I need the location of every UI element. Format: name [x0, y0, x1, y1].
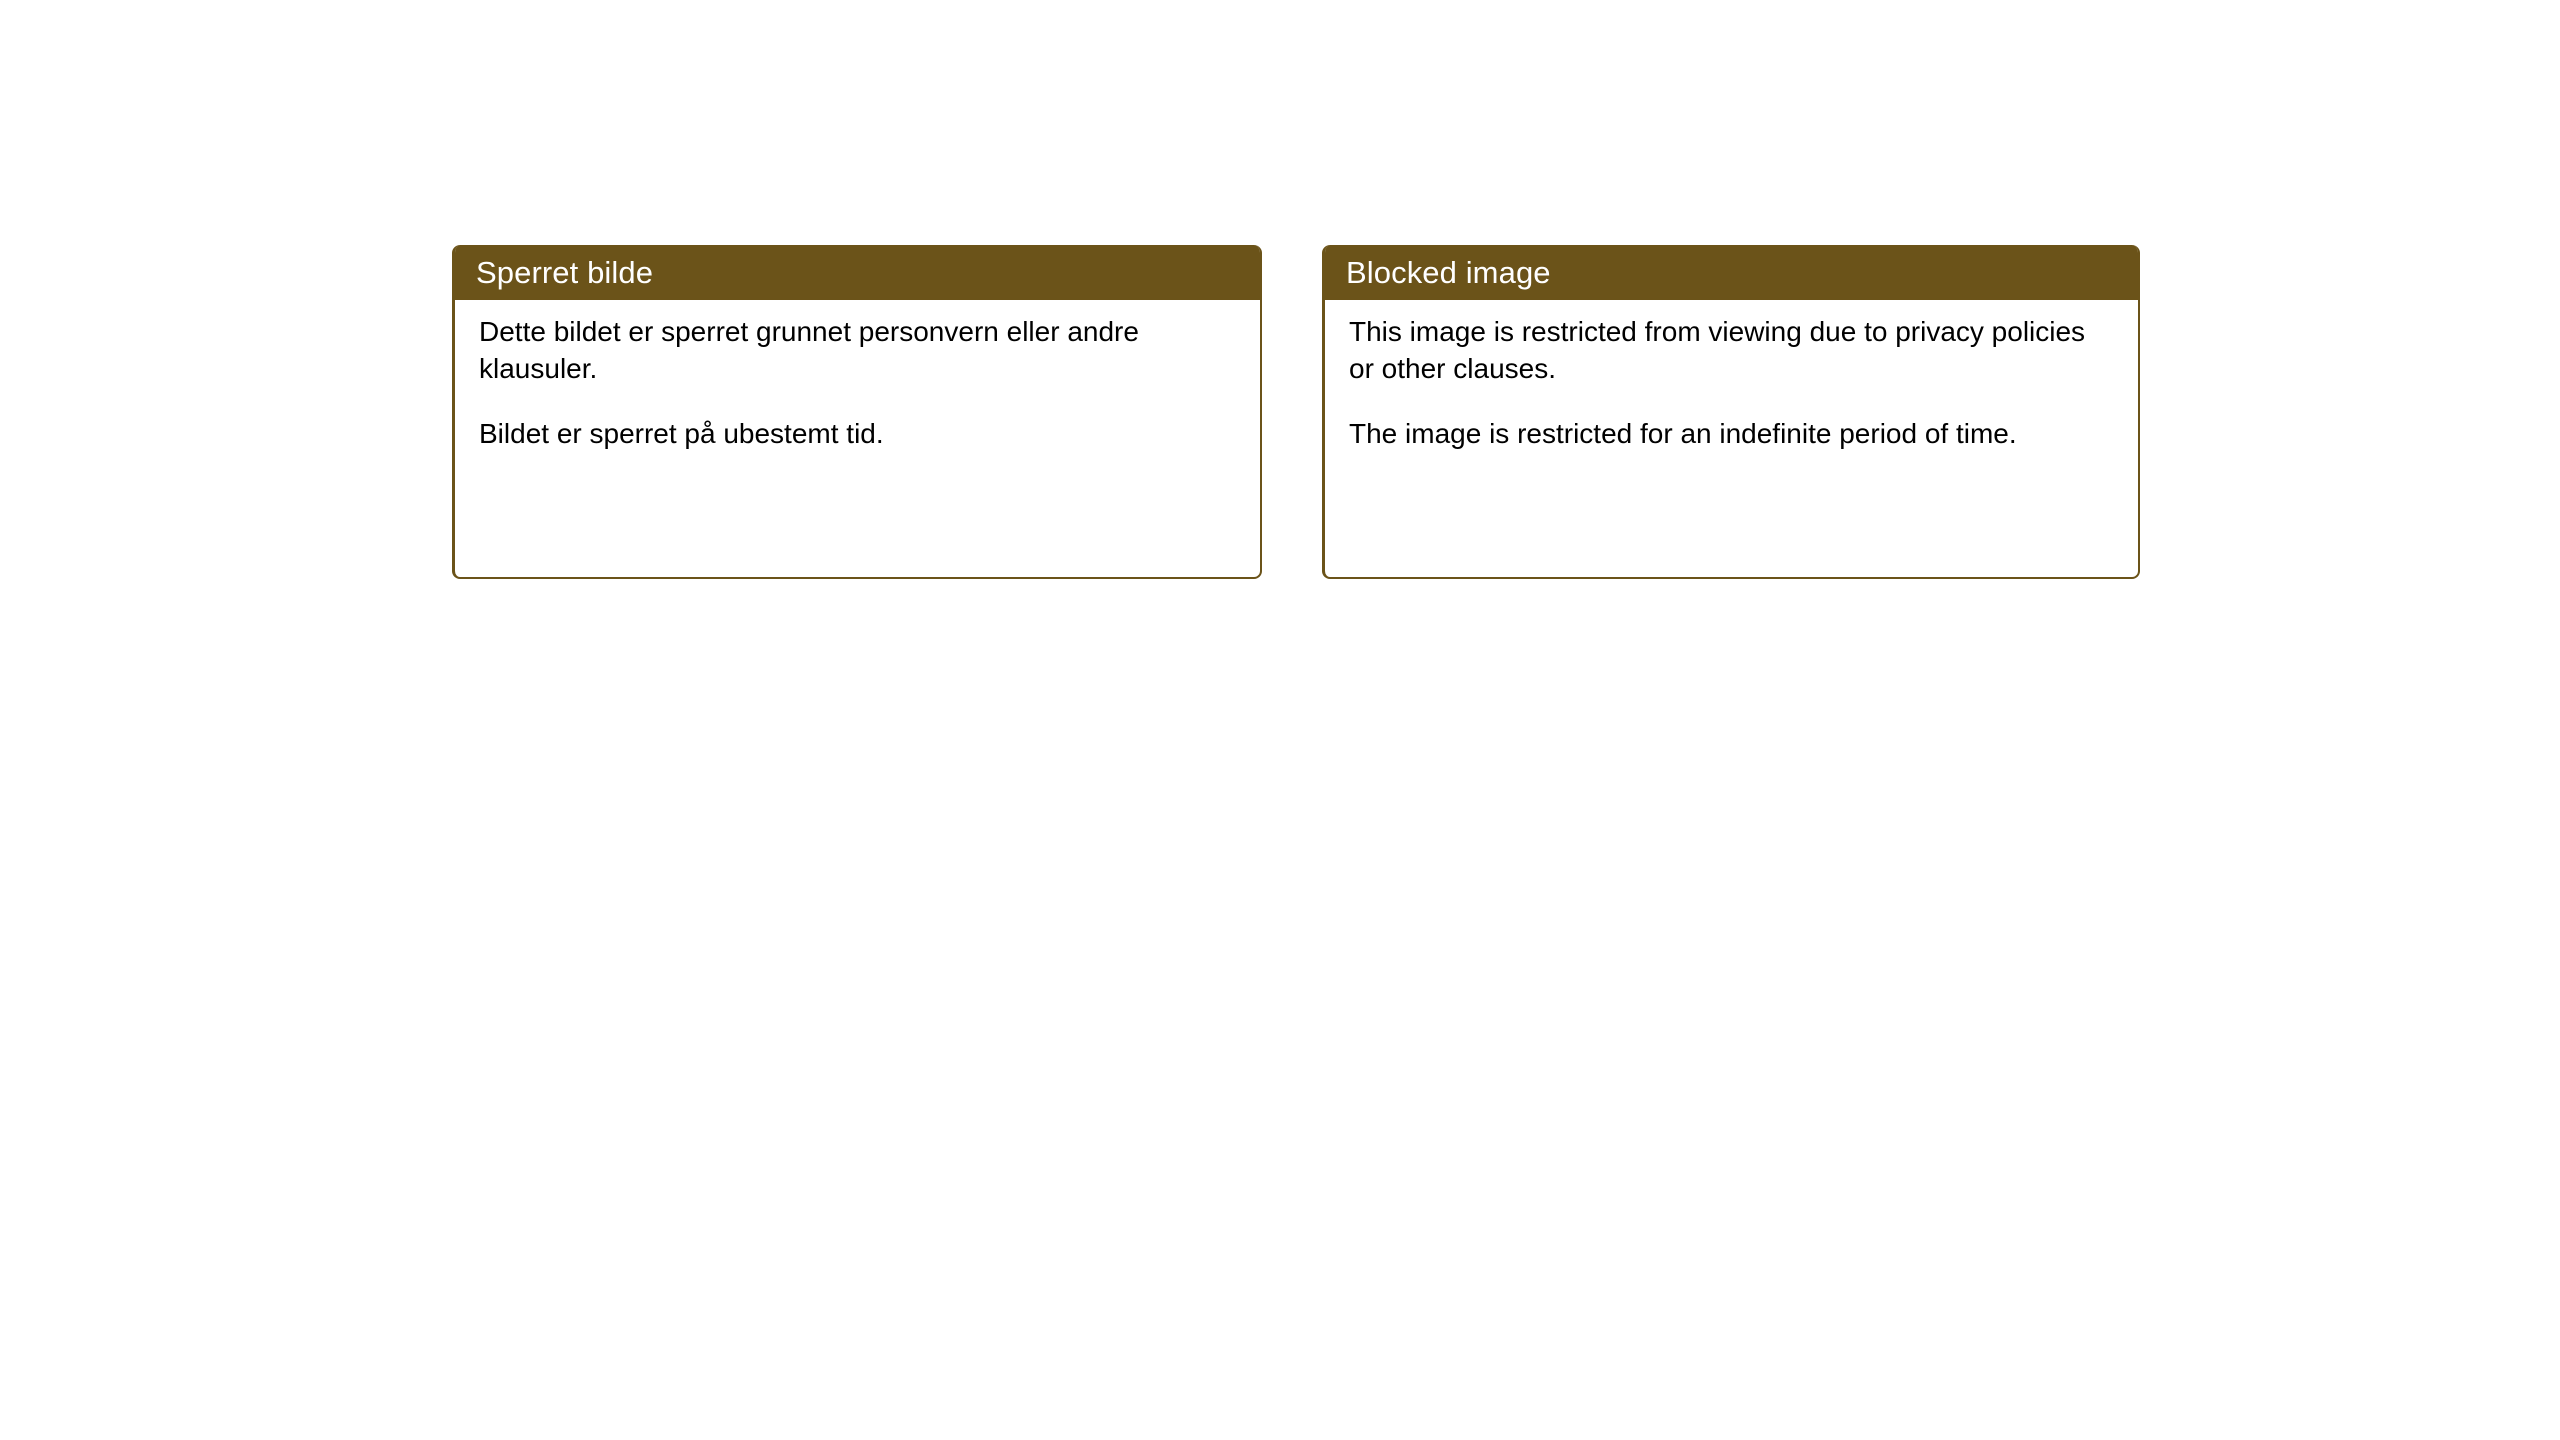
panel-title-english: Blocked image [1346, 257, 1551, 288]
panel-body-norwegian: Dette bildet er sperret grunnet personve… [455, 300, 1260, 453]
panel-title-norwegian: Sperret bilde [476, 257, 653, 288]
panel-paragraph-norwegian-1: Dette bildet er sperret grunnet personve… [479, 314, 1238, 388]
paragraph-spacer [1349, 388, 2116, 416]
blocked-image-notice-area: Sperret bilde Dette bildet er sperret gr… [452, 245, 2142, 585]
panel-paragraph-english-2: The image is restricted for an indefinit… [1349, 416, 2116, 453]
panel-header-norwegian: Sperret bilde [452, 245, 1262, 300]
paragraph-spacer [479, 388, 1238, 416]
panel-body-english: This image is restricted from viewing du… [1325, 300, 2138, 453]
panel-paragraph-english-1: This image is restricted from viewing du… [1349, 314, 2116, 388]
blocked-image-panel-norwegian: Sperret bilde Dette bildet er sperret gr… [452, 245, 1262, 579]
blocked-image-panel-english: Blocked image This image is restricted f… [1322, 245, 2140, 579]
panel-header-english: Blocked image [1322, 245, 2140, 300]
panel-paragraph-norwegian-2: Bildet er sperret på ubestemt tid. [479, 416, 1238, 453]
